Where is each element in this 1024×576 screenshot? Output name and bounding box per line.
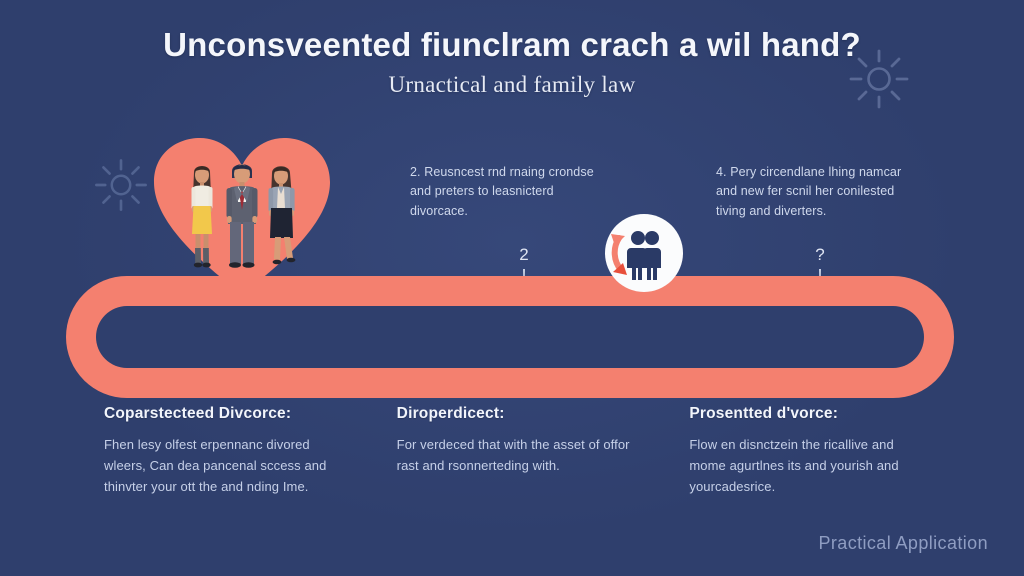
heart-illustration-group: [152, 136, 332, 296]
column-2-title: Diroperdicect:: [397, 405, 634, 423]
column-1-title: Coparstecteed Divcorce:: [104, 405, 341, 423]
columns-section: Coparstecteed Divcorce: Fhen lesy olfest…: [0, 405, 1024, 497]
person-center: [227, 164, 258, 268]
column-diroperdicect: Diroperdicect: For verdeced that with th…: [397, 405, 634, 497]
person-left: [192, 166, 213, 267]
timeline-track: [66, 276, 954, 398]
column-1-body: Fhen lesy olfest erpennanc divored wleer…: [104, 434, 341, 497]
note-2: 2. Reusncest rnd rnaing crondse and pret…: [410, 163, 606, 221]
column-prosentted-divorce: Prosentted d'vorce: Flow en disnctzein t…: [689, 405, 926, 497]
column-coparstecteed-divcorce: Coparstecteed Divcorce: Fhen lesy olfest…: [104, 405, 341, 497]
column-3-body: Flow en disnctzein the ricallive and mom…: [689, 434, 926, 497]
three-people-illustration: [180, 158, 304, 280]
timeline-marker-2-label: 2: [504, 246, 544, 263]
column-3-title: Prosentted d'vorce:: [689, 405, 926, 423]
timeline-track-inner: [96, 306, 924, 368]
note-4: 4. Pery circendlane lhing namcar and new…: [716, 163, 918, 221]
two-people-exchange-icon[interactable]: [601, 210, 687, 296]
infographic-canvas: Unconsveented fiunclram crach a wil hand…: [0, 0, 1024, 576]
sun-sparkle-icon: [846, 46, 912, 112]
column-2-body: For verdeced that with the asset of offo…: [397, 434, 634, 476]
sun-sparkle-icon-left: [92, 156, 150, 214]
person-right: [269, 166, 296, 264]
footer-label: Practical Application: [819, 533, 989, 554]
timeline-marker-question-label: ?: [800, 246, 840, 263]
